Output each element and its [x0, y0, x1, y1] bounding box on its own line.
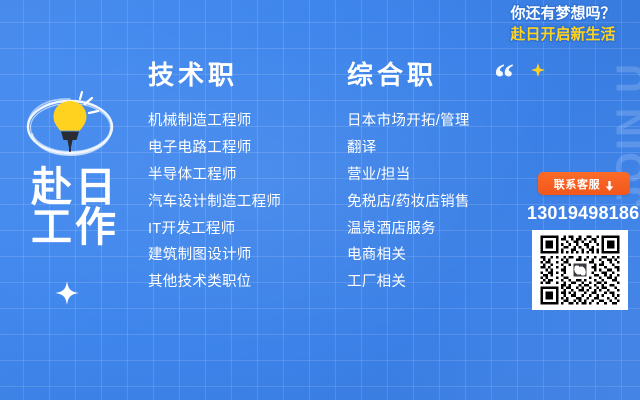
- list-item: 免税店/药妆店销售: [347, 195, 470, 210]
- job-category-general: 综合职 日本市场开拓/管理 翻译 营业/担当 免税店/药妆店销售 温泉酒店服务 …: [347, 62, 470, 302]
- list-item: 汽车设计制造工程师: [148, 195, 281, 210]
- arrow-down-icon: [605, 178, 614, 189]
- headline-line-2: 赴日开启新生活: [496, 24, 630, 46]
- list-item: 电商相关: [347, 248, 470, 263]
- list-item: 营业/担当: [347, 168, 470, 183]
- list-item: 日本市场开拓/管理: [347, 114, 470, 129]
- sparkle-star-icon: [55, 281, 79, 305]
- poster-canvas: JOIN U 你还有梦想吗？ 赴日开启新生活 “: [0, 0, 640, 400]
- list-item: 翻译: [347, 141, 470, 156]
- qr-code-image[interactable]: [532, 230, 628, 310]
- job-category-tech: 技术职 机械制造工程师 电子电路工程师 半导体工程师 汽车设计制造工程师 IT开…: [148, 62, 281, 302]
- list-item: IT开发工程师: [148, 222, 281, 237]
- quote-mark-decoration: “: [494, 58, 512, 98]
- headline-block: 你还有梦想吗？ 赴日开启新生活: [496, 4, 630, 46]
- contact-support-label: 联系客服: [554, 176, 600, 192]
- lightbulb-icon: [18, 82, 122, 168]
- column-heading-general: 综合职: [347, 62, 470, 88]
- list-item: 电子电路工程师: [148, 141, 281, 156]
- list-item: 工厂相关: [347, 275, 470, 290]
- page-title: 赴日 工作: [22, 168, 128, 248]
- list-item: 机械制造工程师: [148, 114, 281, 129]
- job-list-general: 日本市场开拓/管理 翻译 营业/担当 免税店/药妆店销售 温泉酒店服务 电商相关…: [347, 114, 470, 290]
- four-point-star-icon: [531, 63, 545, 77]
- page-title-line-2: 工作: [22, 208, 128, 248]
- list-item: 温泉酒店服务: [347, 222, 470, 237]
- list-item: 其他技术类职位: [148, 275, 281, 290]
- headline-line-1: 你还有梦想吗？: [496, 4, 630, 24]
- list-item: 建筑制图设计师: [148, 248, 281, 263]
- contact-phone-number: 13019498186: [527, 203, 633, 224]
- list-item: 半导体工程师: [148, 168, 281, 183]
- contact-support-button[interactable]: 联系客服: [538, 172, 630, 195]
- job-list-tech: 机械制造工程师 电子电路工程师 半导体工程师 汽车设计制造工程师 IT开发工程师…: [148, 114, 281, 290]
- column-heading-tech: 技术职: [148, 62, 281, 88]
- page-title-line-1: 赴日: [22, 168, 128, 208]
